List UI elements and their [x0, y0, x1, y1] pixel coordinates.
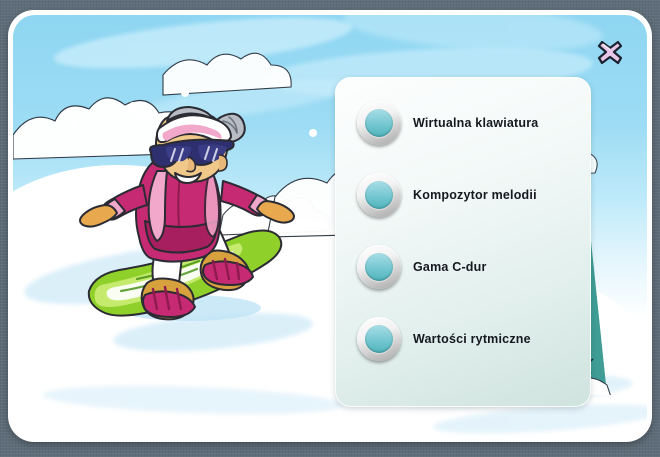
- menu-list: Wirtualna klawiatura Kompozytor melodii …: [357, 101, 581, 361]
- bullet-icon: [357, 245, 401, 289]
- app-window: Wirtualna klawiatura Kompozytor melodii …: [0, 0, 660, 457]
- menu-item-label: Kompozytor melodii: [413, 188, 537, 202]
- menu-panel: Wirtualna klawiatura Kompozytor melodii …: [335, 77, 591, 407]
- menu-item-rhythmic-values[interactable]: Wartości rytmiczne: [357, 317, 581, 361]
- scene-canvas: Wirtualna klawiatura Kompozytor melodii …: [13, 15, 647, 437]
- menu-item-label: Wirtualna klawiatura: [413, 116, 538, 130]
- menu-item-melody-composer[interactable]: Kompozytor melodii: [357, 173, 581, 217]
- snowboarder-character: [71, 93, 321, 343]
- menu-item-virtual-keyboard[interactable]: Wirtualna klawiatura: [357, 101, 581, 145]
- window-frame: Wirtualna klawiatura Kompozytor melodii …: [8, 10, 652, 442]
- menu-item-c-major-scale[interactable]: Gama C-dur: [357, 245, 581, 289]
- bullet-icon: [357, 173, 401, 217]
- menu-item-label: Wartości rytmiczne: [413, 332, 531, 346]
- close-x-icon: [597, 39, 623, 65]
- bullet-icon: [357, 317, 401, 361]
- menu-item-label: Gama C-dur: [413, 260, 487, 274]
- close-button[interactable]: [597, 39, 623, 65]
- bullet-icon: [357, 101, 401, 145]
